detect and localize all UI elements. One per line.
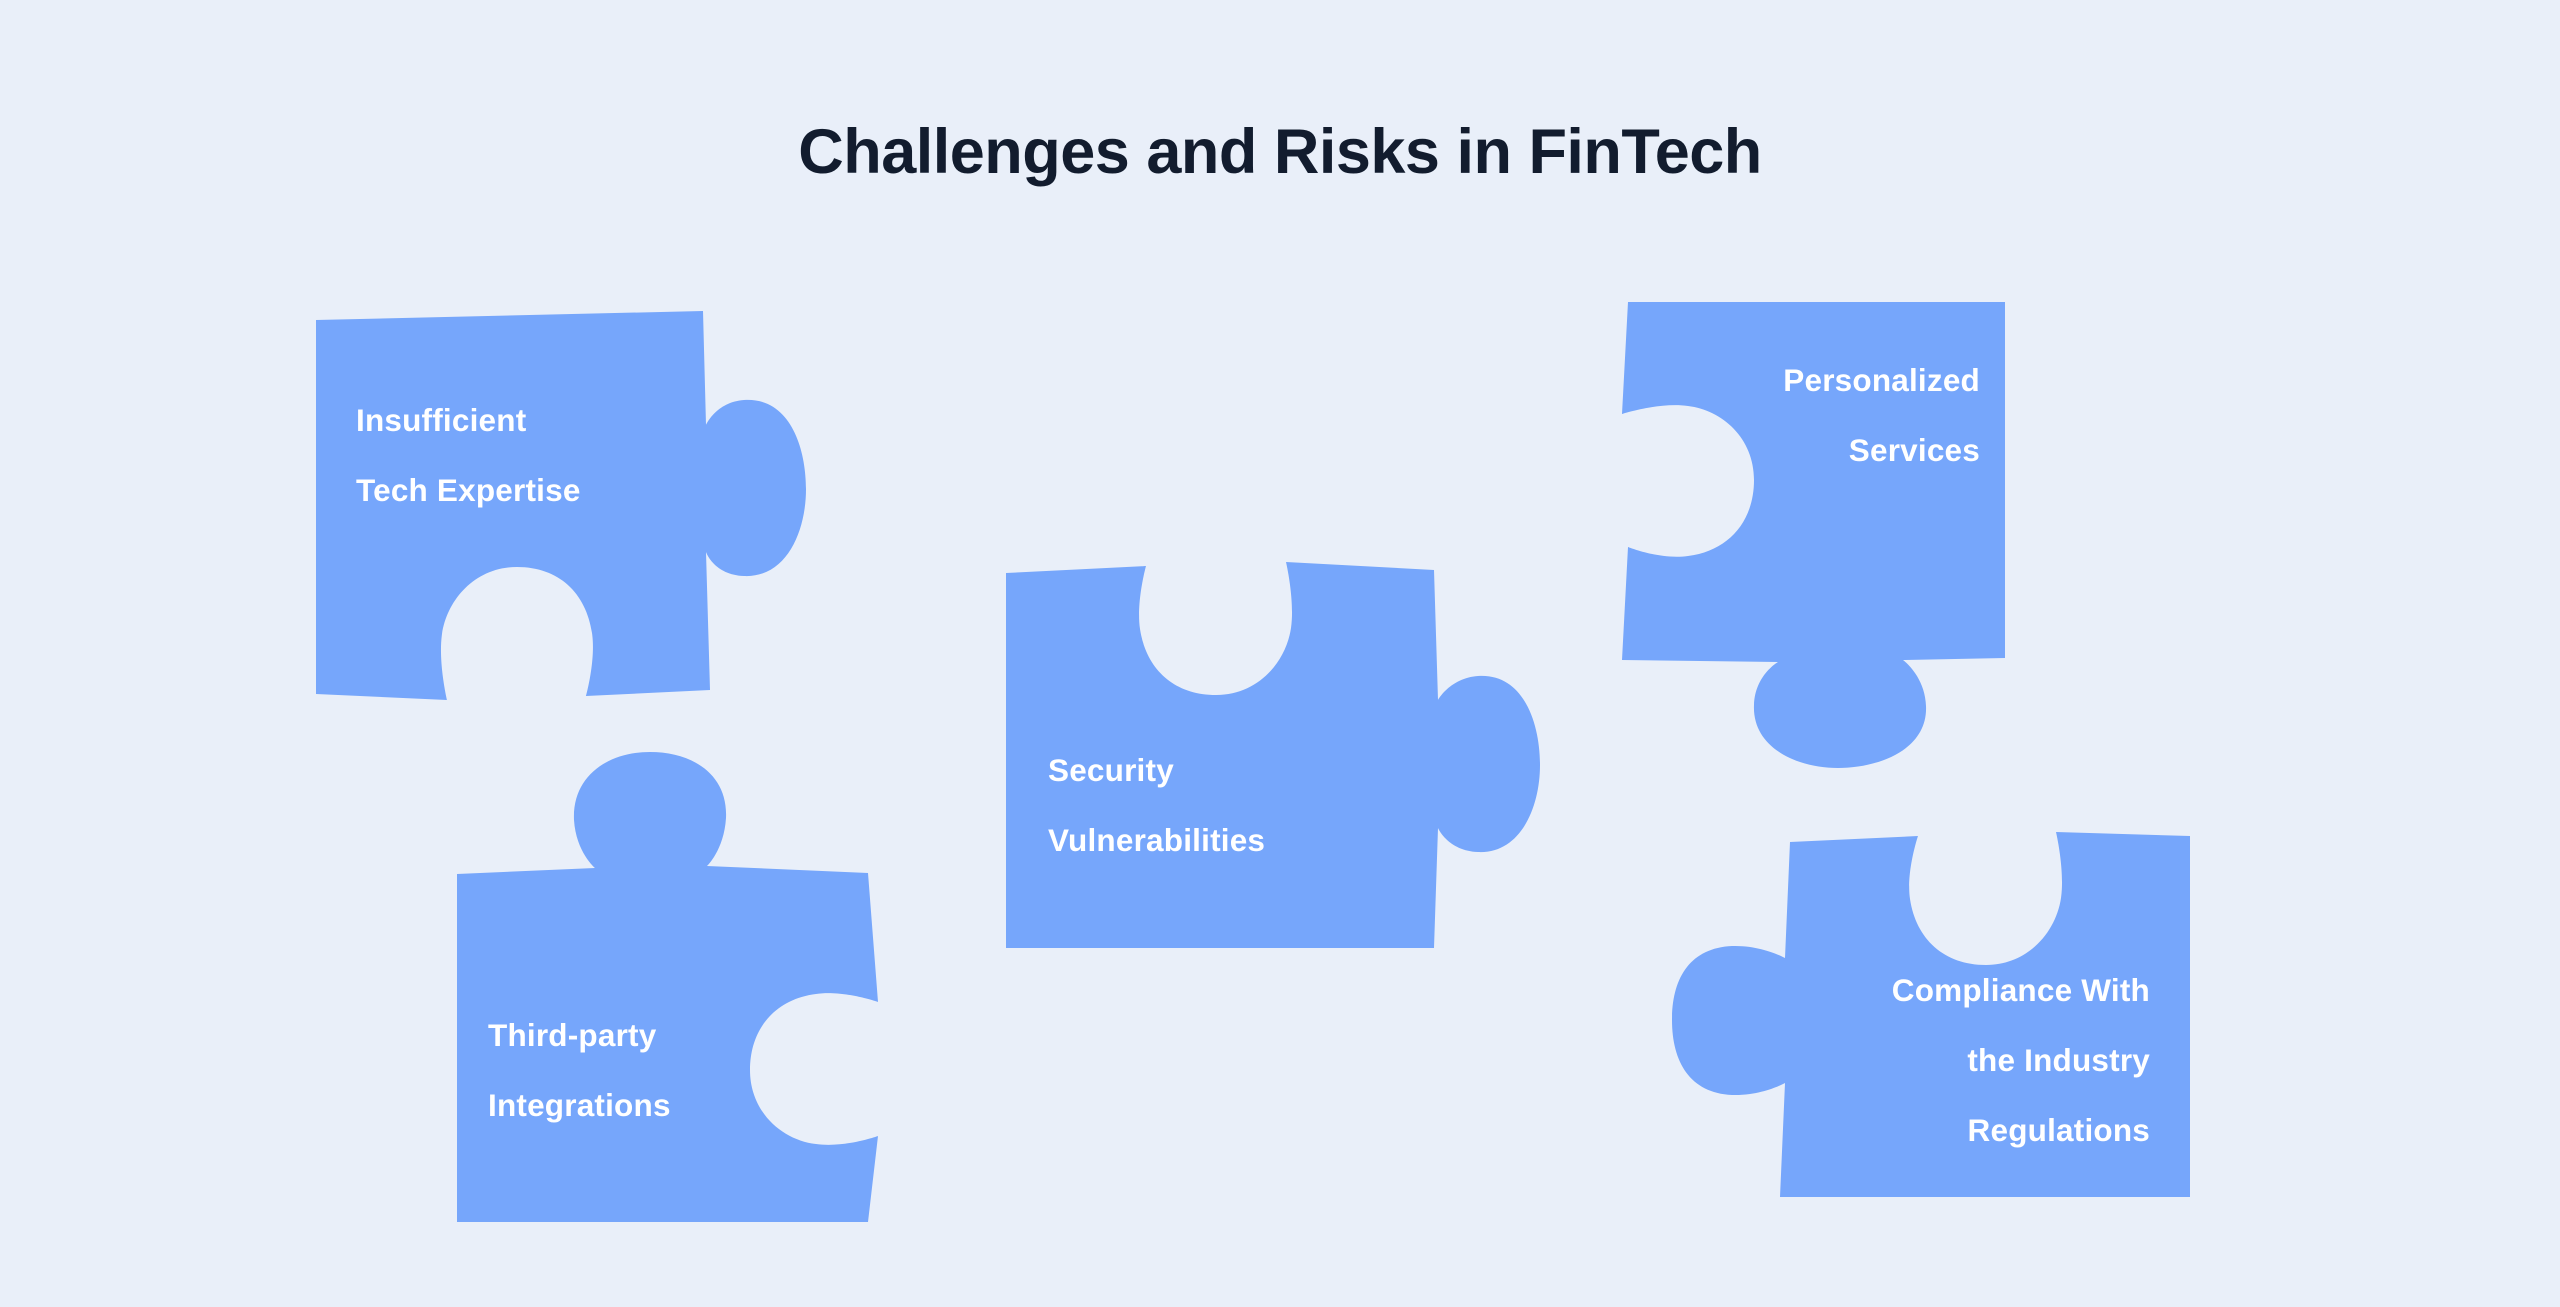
puzzle-graphic	[0, 0, 2560, 1307]
infographic-canvas: Challenges and Risks in FinTech Insuffic…	[0, 0, 2560, 1307]
piece-label-compliance-regulations: Compliance With the Industry Regulations	[1700, 955, 2150, 1165]
page-title: Challenges and Risks in FinTech	[0, 118, 2560, 187]
piece-label-third-party-integrations: Third-party Integrations	[488, 1000, 888, 1140]
piece-label-security-vulnerabilities: Security Vulnerabilities	[1048, 735, 1448, 875]
puzzle-piece-third-party-integrations[interactable]	[457, 752, 878, 1222]
piece-label-insufficient-tech-expertise: Insufficient Tech Expertise	[356, 385, 756, 525]
piece-label-personalized-services: Personalized Services	[1560, 345, 1980, 485]
